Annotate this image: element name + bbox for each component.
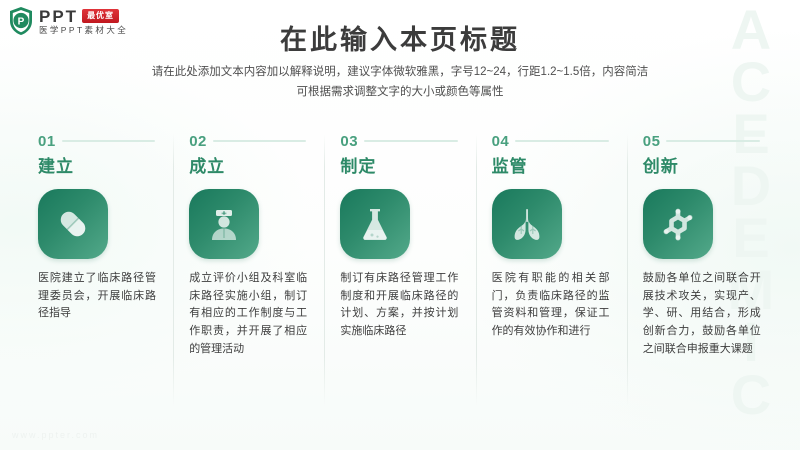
step-icon-tile[interactable]: [340, 189, 410, 259]
lungs-icon: [507, 204, 547, 244]
step-body: 成立评价小组及科室临床路径实施小组，制订有相应的工作制度与工作职责，并开展了相应…: [189, 270, 307, 359]
step-column-3[interactable]: 03 制定 制订有床路径管理工作制度和开展临床路径的计划、方案，并按计划实施临床…: [324, 132, 475, 341]
step-number: 02: [189, 134, 207, 149]
steps-container: 01 建立 医院建立了临床路径管理委员会，开展临床路径指导 02: [22, 132, 778, 359]
slide-root: A C E D E M I C P PPT 最优室 医学PPT素材大全 在此输入…: [0, 0, 800, 450]
step-column-4[interactable]: 04 监管 医院有职能的相关部门，负责临床路径的监管资料和管理，保证工作的有效协…: [476, 132, 627, 341]
step-number-row: 02: [189, 132, 314, 150]
subtitle-line-1: 请在此处添加文本内容加以解释说明，建议字体微软雅黑，字号12~24，行距1.2~…: [100, 62, 700, 82]
step-icon-tile[interactable]: [38, 189, 108, 259]
step-body: 鼓励各单位之间联合开展技术攻关，实现产、学、研、用结合，形成创新合力，鼓励各单位…: [643, 270, 761, 359]
step-number-row: 03: [340, 132, 465, 150]
step-column-2[interactable]: 02 成立 成立评价小组及科室临床路径实施小组，制订有相应的工作制度与工作职责，…: [173, 132, 324, 359]
step-number-row: 05: [643, 132, 768, 150]
step-heading: 制定: [340, 158, 465, 177]
step-number-rule: [364, 140, 458, 143]
step-body: 医院建立了临床路径管理委员会，开展临床路径指导: [38, 270, 156, 323]
nurse-icon: [204, 204, 244, 244]
step-body: 制订有床路径管理工作制度和开展临床路径的计划、方案，并按计划实施临床路径: [340, 270, 458, 341]
step-icon-tile[interactable]: [492, 189, 562, 259]
step-number-row: 04: [492, 132, 617, 150]
capsule-pill-icon: [53, 204, 93, 244]
molecule-icon: [658, 204, 698, 244]
step-heading: 创新: [643, 158, 768, 177]
step-heading: 建立: [38, 158, 163, 177]
step-number-rule: [515, 140, 609, 143]
step-body: 医院有职能的相关部门，负责临床路径的监管资料和管理，保证工作的有效协作和进行: [492, 270, 610, 341]
step-column-5[interactable]: 05 创新: [627, 132, 778, 359]
step-number-row: 01: [38, 132, 163, 150]
step-heading: 成立: [189, 158, 314, 177]
flask-icon: [355, 204, 395, 244]
step-number: 01: [38, 134, 56, 149]
watermark-letter: C: [731, 56, 771, 108]
step-heading: 监管: [492, 158, 617, 177]
subtitle-line-2: 可根据需求调整文字的大小或颜色等属性: [100, 82, 700, 102]
step-number: 03: [340, 134, 358, 149]
page-subtitle: 请在此处添加文本内容加以解释说明，建议字体微软雅黑，字号12~24，行距1.2~…: [100, 62, 700, 102]
step-icon-tile[interactable]: [189, 189, 259, 259]
step-number-rule: [213, 140, 307, 143]
step-column-1[interactable]: 01 建立 医院建立了临床路径管理委员会，开展临床路径指导: [22, 132, 173, 323]
page-title: 在此输入本页标题: [0, 18, 800, 57]
step-icon-tile[interactable]: [643, 189, 713, 259]
step-number: 05: [643, 134, 661, 149]
watermark-letter: C: [731, 369, 771, 421]
step-number-rule: [666, 140, 760, 143]
step-number: 04: [492, 134, 510, 149]
step-number-rule: [62, 140, 156, 143]
footer-url: www.ppter.com: [12, 430, 99, 440]
